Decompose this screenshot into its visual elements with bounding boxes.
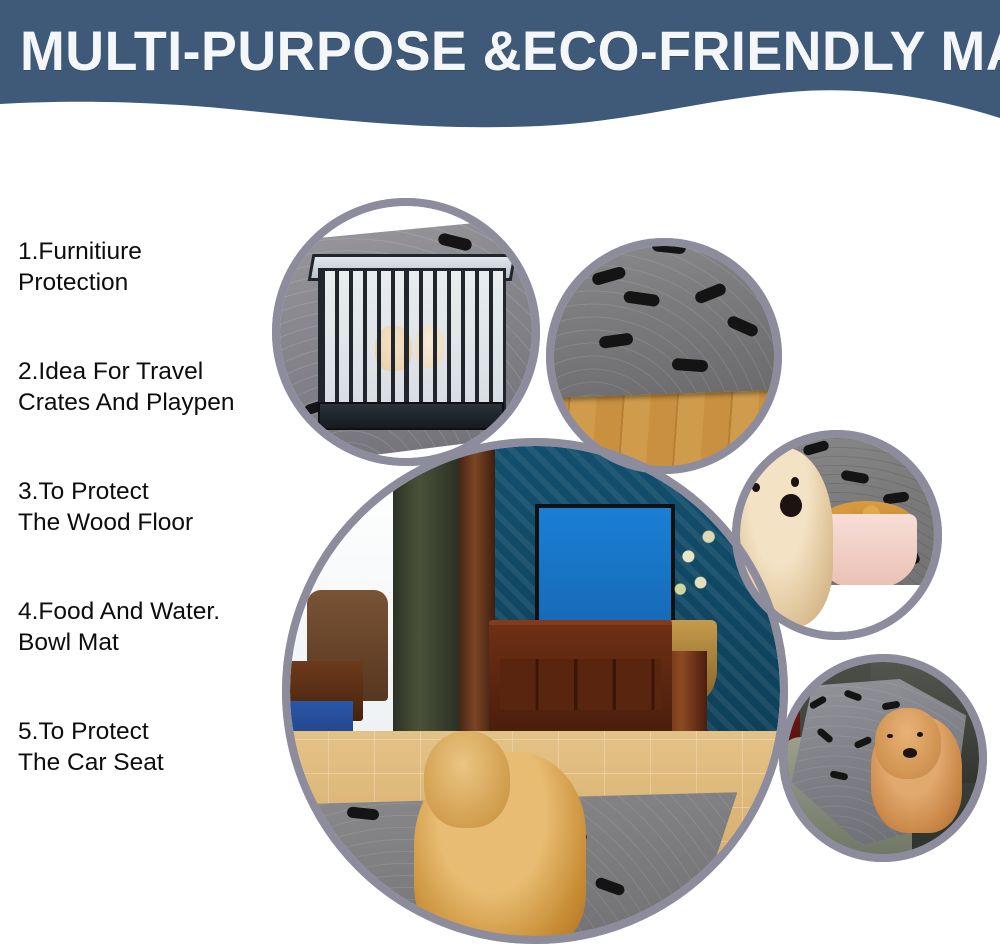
photo-crate — [272, 198, 540, 466]
car-seat-scene — [779, 654, 987, 862]
photo-living-room — [282, 438, 788, 944]
bone-print — [584, 941, 616, 944]
dog-eye — [752, 483, 760, 492]
food-bowl-scene — [732, 430, 942, 640]
feature-item-2: 2.Idea For Travel Crates And Playpen — [18, 356, 290, 418]
bone-print — [671, 358, 708, 372]
bone-print — [843, 689, 862, 702]
puppy-head — [875, 708, 942, 779]
puppy-nose — [903, 748, 918, 758]
photo-food-bowl — [732, 430, 942, 640]
crate-divider — [404, 271, 409, 410]
living-room-scene — [282, 438, 788, 944]
puppy-eye — [917, 732, 923, 737]
feature-item-3: 3.To Protect The Wood Floor — [18, 476, 290, 538]
bone-print — [337, 923, 368, 939]
feature-item-1: 1.Furnitiure Protection — [18, 236, 290, 298]
mat-on-wood — [546, 238, 782, 398]
bone-print — [841, 470, 870, 485]
photo-food-bowl-image — [732, 430, 942, 640]
feature-list: 1.Furnitiure Protection 2.Idea For Trave… — [18, 236, 290, 836]
bone-print — [546, 270, 573, 296]
flower-arrangement — [656, 504, 737, 636]
feature-item-5: 5.To Protect The Car Seat — [18, 716, 290, 778]
crate-base — [318, 402, 504, 430]
tv-console — [489, 620, 671, 736]
bone-print — [282, 893, 310, 911]
bone-print — [579, 238, 602, 268]
photo-living-room-image — [282, 438, 788, 944]
bone-print — [854, 735, 873, 749]
bone-print — [816, 727, 834, 744]
photo-crate-image — [272, 198, 540, 466]
bone-print — [319, 853, 349, 881]
dog-eye — [791, 477, 799, 486]
bone-print — [347, 807, 380, 821]
crate-scene — [272, 198, 540, 466]
photo-car-seat-image — [779, 654, 987, 862]
bone-print — [289, 819, 321, 841]
infographic-canvas: MULTI-PURPOSE &ECO-FRIENDLY MAT 1.Furnit… — [0, 0, 1000, 946]
feature-item-4: 4.Food And Water. Bowl Mat — [18, 596, 290, 658]
bone-print — [598, 332, 633, 349]
bone-print — [829, 770, 848, 781]
header-banner: MULTI-PURPOSE &ECO-FRIENDLY MAT — [0, 0, 1000, 132]
photo-car-seat — [779, 654, 987, 862]
crate-body — [318, 268, 506, 413]
dog-beside-bowl — [732, 447, 833, 628]
crate-bars — [321, 271, 503, 410]
curtain — [393, 438, 459, 742]
dog-nose — [780, 494, 802, 517]
bone-print — [651, 239, 686, 254]
bone-print — [693, 281, 727, 304]
bone-print — [590, 265, 626, 286]
page-title: MULTI-PURPOSE &ECO-FRIENDLY MAT — [20, 18, 980, 84]
bone-print — [808, 695, 827, 710]
bone-print — [594, 876, 626, 897]
dog-head — [424, 731, 510, 827]
puppy-eye — [887, 734, 893, 739]
bone-print — [803, 439, 831, 456]
bone-print — [622, 290, 659, 307]
bone-print — [725, 314, 759, 338]
